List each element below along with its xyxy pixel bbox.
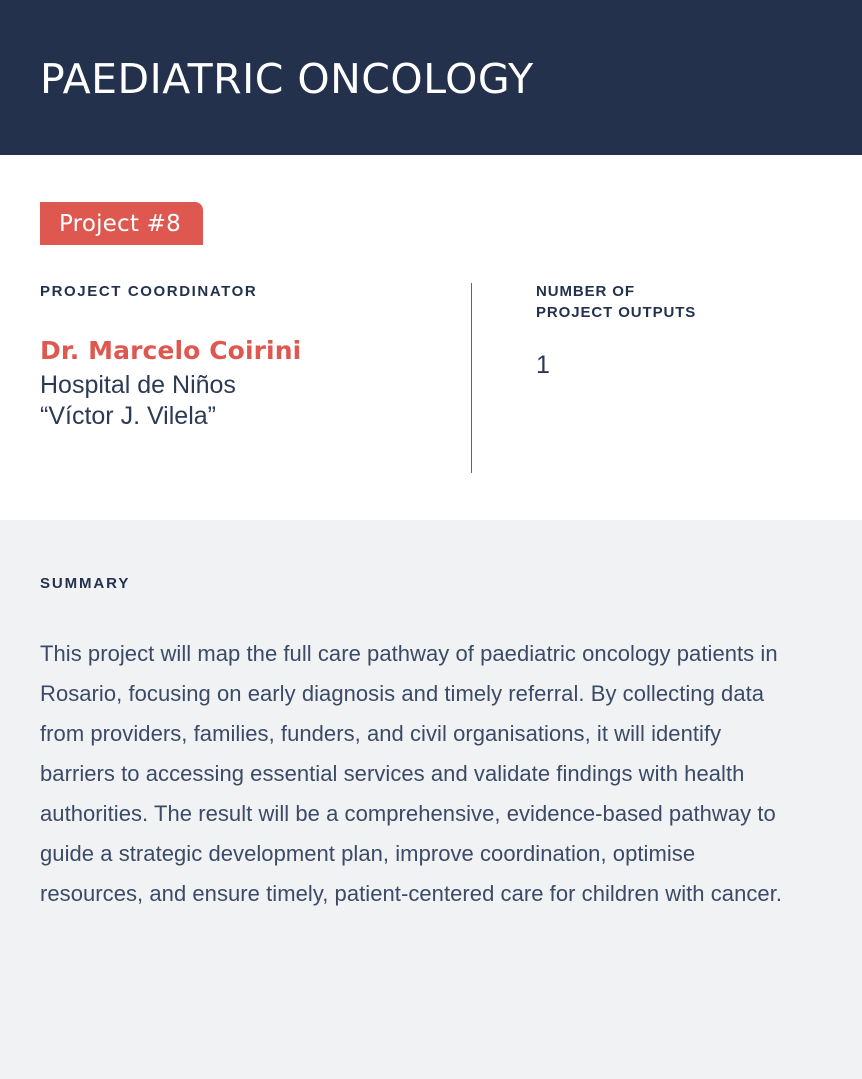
- page-header: PAEDIATRIC ONCOLOGY: [0, 0, 862, 155]
- summary-body: This project will map the full care path…: [40, 634, 802, 914]
- coordinator-organisation-line-2: “Víctor J. Vilela”: [40, 401, 440, 432]
- coordinator-name: Dr. Marcelo Coirini: [40, 336, 440, 366]
- column-divider: [471, 283, 472, 473]
- coordinator-label: PROJECT COORDINATOR: [40, 281, 440, 303]
- coordinator-organisation: Hospital de Niños “Víctor J. Vilela”: [40, 370, 440, 432]
- summary-section: SUMMARY This project will map the full c…: [0, 520, 862, 1079]
- coordinator-column: PROJECT COORDINATOR Dr. Marcelo Coirini …: [40, 281, 440, 432]
- project-number-badge-label: Project #8: [59, 211, 181, 237]
- page-title: PAEDIATRIC ONCOLOGY: [40, 54, 534, 104]
- outputs-label-line-2: PROJECT OUTPUTS: [536, 302, 836, 323]
- project-number-badge: Project #8: [40, 202, 203, 245]
- coordinator-organisation-line-1: Hospital de Niños: [40, 370, 440, 401]
- info-columns: PROJECT COORDINATOR Dr. Marcelo Coirini …: [0, 281, 862, 476]
- project-info-section: Project #8 PROJECT COORDINATOR Dr. Marce…: [0, 155, 862, 520]
- summary-label: SUMMARY: [40, 574, 130, 594]
- outputs-value: 1: [536, 350, 836, 380]
- outputs-label-line-1: NUMBER OF: [536, 281, 836, 302]
- outputs-column: NUMBER OF PROJECT OUTPUTS 1: [536, 281, 836, 380]
- project-card-page: PAEDIATRIC ONCOLOGY Project #8 PROJECT C…: [0, 0, 862, 1079]
